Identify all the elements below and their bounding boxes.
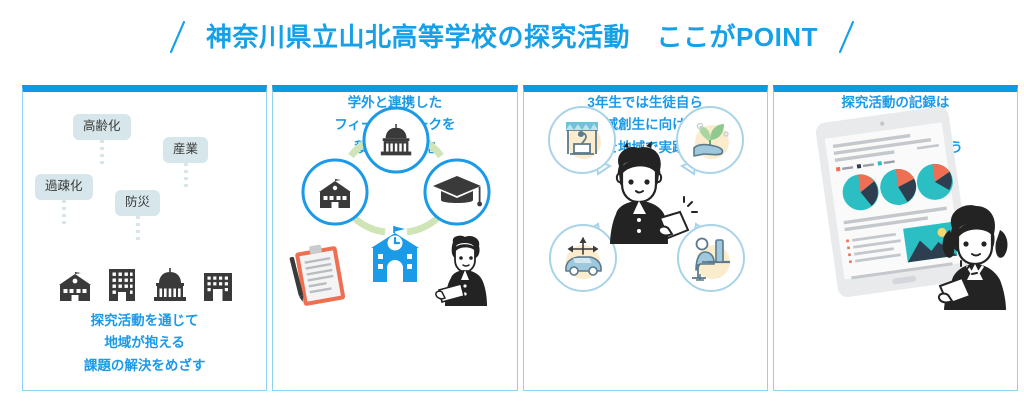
clipboard-icon bbox=[285, 242, 355, 308]
bubble-tail bbox=[100, 140, 104, 164]
page-title: 神奈川県立山北高等学校の探究活動 ここがPOINT bbox=[0, 18, 1024, 56]
bubble-tail bbox=[62, 200, 66, 224]
card-fieldwork: 学外と連携した フィールドワークを 積極的に実施 bbox=[272, 85, 517, 391]
bubble-sangyo: 産業 bbox=[163, 137, 208, 163]
card-classi: 探究活動の記録は Classiに集約し 学びの振り返りを行う bbox=[773, 85, 1018, 391]
bubble-bosai-label: 防災 bbox=[125, 195, 150, 209]
bubble-tail bbox=[136, 216, 140, 240]
person-desk-icon bbox=[678, 224, 744, 291]
bubble-tail bbox=[184, 163, 188, 187]
card2-illustration bbox=[273, 92, 516, 310]
card-teigen: 3年生では生徒自ら 地域創生に向けた 提言を地域で実践する bbox=[523, 85, 768, 391]
male-student-icon bbox=[431, 234, 503, 310]
bubble-kourei: 高齢化 bbox=[73, 114, 131, 140]
card4-illustration bbox=[774, 92, 1017, 310]
card-tankyu-chiiki: 高齢化 産業 過疎化 防災 bbox=[22, 85, 267, 391]
caption-line: 地域が抱える bbox=[29, 332, 260, 354]
page-title-text: 神奈川県立山北高等学校の探究活動 ここがPOINT bbox=[206, 18, 818, 56]
capitol-building-icon bbox=[151, 268, 189, 302]
bubble-kourei-label: 高齢化 bbox=[83, 119, 121, 133]
bubble-bosai: 防災 bbox=[115, 190, 160, 216]
caption-line: 探究活動を通じて bbox=[29, 310, 260, 332]
apartment-building-icon bbox=[203, 272, 233, 302]
card3-illustration bbox=[524, 92, 767, 310]
shop-stall-icon bbox=[549, 107, 615, 174]
bubble-kaso-label: 過疎化 bbox=[45, 179, 83, 193]
building-icon-row bbox=[23, 268, 266, 302]
car-arrows-icon bbox=[550, 224, 616, 291]
hand-plant-icon bbox=[677, 107, 743, 174]
bubble-kaso: 過疎化 bbox=[35, 174, 93, 200]
card1-caption: 探究活動を通じて 地域が抱える 課題の解決をめざす bbox=[23, 310, 266, 377]
card-grid: 高齢化 産業 過疎化 防災 bbox=[22, 85, 1018, 391]
bubble-sangyo-label: 産業 bbox=[173, 142, 198, 156]
school-building-icon bbox=[57, 268, 93, 302]
caption-line: 課題の解決をめざす bbox=[29, 355, 260, 377]
infographic-page: 神奈川県立山北高等学校の探究活動 ここがPOINT 高齢化 産業 過疎化 bbox=[0, 0, 1024, 412]
slash-left-icon bbox=[168, 18, 188, 56]
card1-illustration: 高齢化 産業 過疎化 防災 bbox=[23, 92, 266, 310]
slash-right-icon bbox=[836, 18, 856, 56]
office-building-icon bbox=[107, 268, 137, 302]
tablet-icon bbox=[814, 105, 971, 298]
